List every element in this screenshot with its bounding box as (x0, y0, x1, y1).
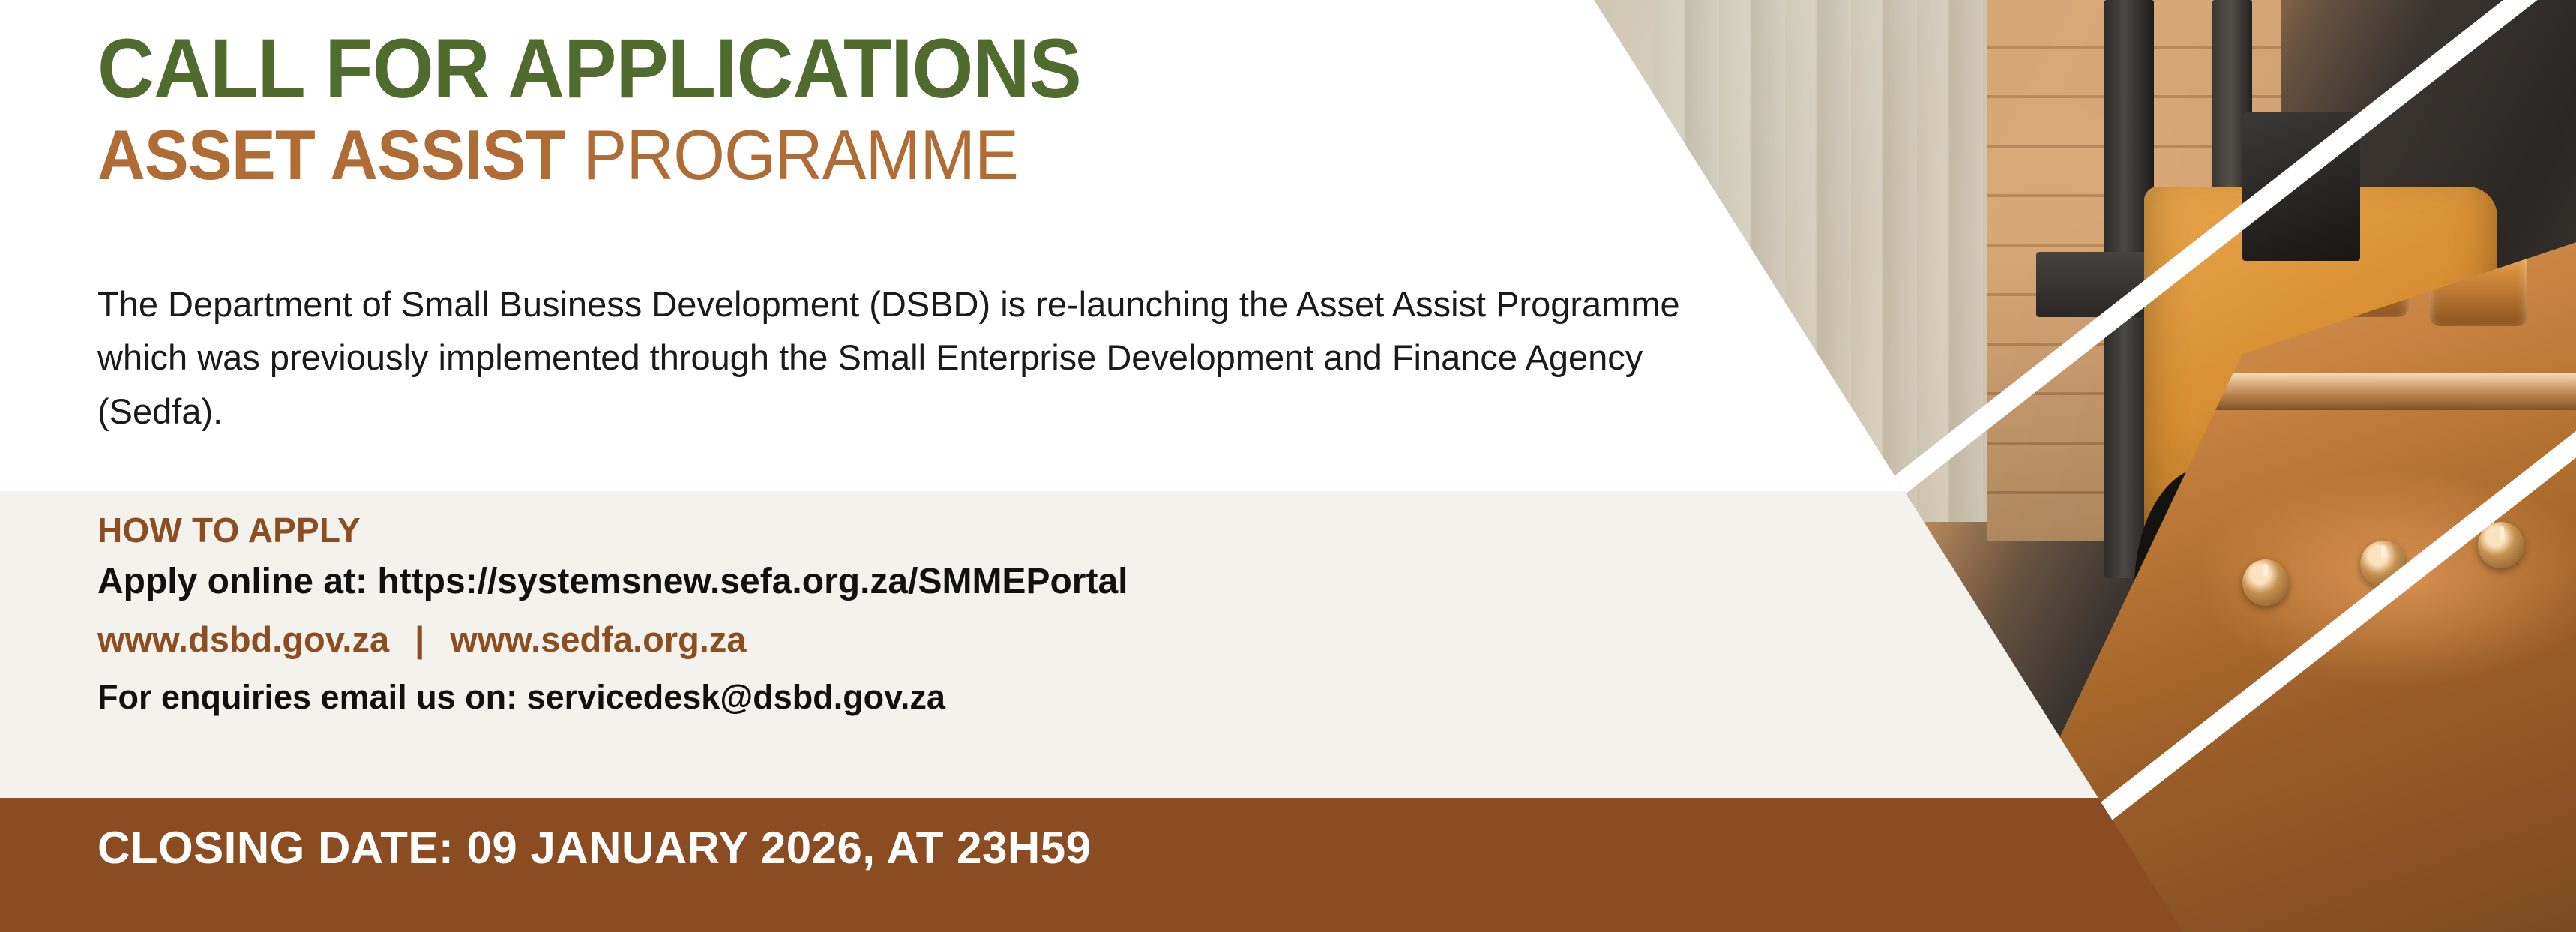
how-to-apply-heading: HOW TO APPLY (97, 510, 1128, 550)
banner-content: CALL FOR APPLICATIONS ASSET ASSIST PROGR… (0, 0, 1612, 932)
apply-online-link[interactable]: Apply online at: https://systemsnew.sefa… (97, 561, 1128, 602)
link-divider: | (389, 619, 450, 660)
call-for-applications-banner: CALL FOR APPLICATIONS ASSET ASSIST PROGR… (0, 0, 2576, 932)
dsbd-website-link[interactable]: www.dsbd.gov.za (97, 619, 389, 659)
sedfa-website-link[interactable]: www.sedfa.org.za (450, 619, 746, 659)
closing-date-text: CLOSING DATE: 09 JANUARY 2026, AT 23H59 (97, 822, 1091, 874)
page-title: CALL FOR APPLICATIONS (97, 27, 1081, 111)
programme-word: PROGRAMME (583, 115, 1018, 194)
how-to-apply-block: HOW TO APPLY Apply online at: https://sy… (97, 510, 1128, 717)
title-block: CALL FOR APPLICATIONS ASSET ASSIST PROGR… (97, 27, 1144, 190)
programme-name: ASSET ASSIST (97, 115, 565, 194)
stove-knob (2242, 559, 2289, 606)
programme-subtitle: ASSET ASSIST PROGRAMME (97, 120, 1081, 190)
intro-paragraph: The Department of Small Business Develop… (97, 277, 1732, 438)
website-links: www.dsbd.gov.za|www.sedfa.org.za (97, 619, 1128, 660)
enquiries-email[interactable]: For enquiries email us on: servicedesk@d… (97, 678, 1128, 717)
